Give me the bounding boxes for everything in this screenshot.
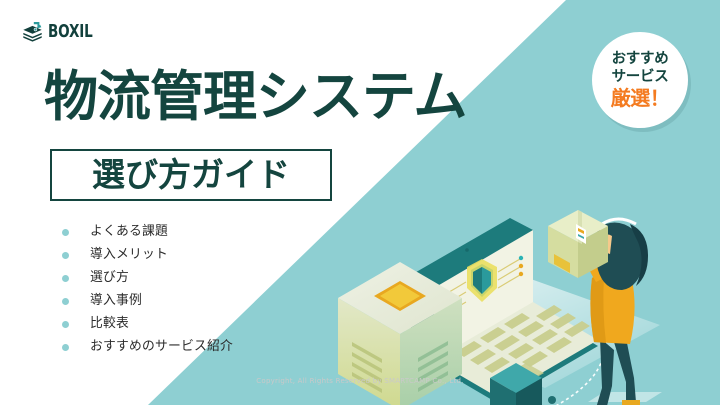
bullet-dot-icon (62, 321, 69, 328)
list-item[interactable]: 導入事例 (62, 291, 233, 313)
list-item[interactable]: よくある課題 (62, 222, 233, 244)
badge-line-3: 厳選！ (611, 87, 670, 109)
list-item-label: 導入事例 (90, 295, 142, 308)
footer-copyright: Copyright, All Rights Reserved by SMARTC… (0, 377, 720, 385)
badge-line-2: サービス (612, 69, 669, 87)
page-title: 物流管理システム (44, 68, 466, 125)
subtitle-text: 選び方ガイド (92, 158, 290, 191)
list-item[interactable]: 比較表 (62, 314, 233, 336)
subtitle-box: 選び方ガイド (50, 149, 332, 201)
bullet-dot-icon (62, 229, 69, 236)
list-item[interactable]: おすすめのサービス紹介 (62, 337, 233, 359)
list-item-label: おすすめのサービス紹介 (90, 341, 233, 354)
bullet-dot-icon (62, 344, 69, 351)
stacked-layers-icon (22, 21, 43, 42)
list-item[interactable]: 導入メリット (62, 245, 233, 267)
list-item[interactable]: 選び方 (62, 268, 233, 290)
badge-line-1: おすすめ (612, 51, 669, 69)
list-item-label: よくある課題 (90, 226, 168, 239)
slide-canvas: BOXIL (0, 0, 720, 405)
list-item-label: 比較表 (90, 318, 129, 331)
list-item-label: 導入メリット (90, 249, 168, 262)
isometric-logistics-illustration (330, 120, 720, 405)
list-item-label: 選び方 (90, 272, 129, 285)
boxil-logo[interactable]: BOXIL (22, 21, 100, 42)
bullet-dot-icon (62, 298, 69, 305)
recommendation-badge: おすすめ サービス 厳選！ (592, 32, 688, 128)
bullet-dot-icon (62, 275, 69, 282)
logo-wordmark: BOXIL (48, 22, 93, 42)
bullet-dot-icon (62, 252, 69, 259)
table-of-contents: よくある課題 導入メリット 選び方 導入事例 比較表 おすすめのサービス紹介 (62, 222, 233, 360)
